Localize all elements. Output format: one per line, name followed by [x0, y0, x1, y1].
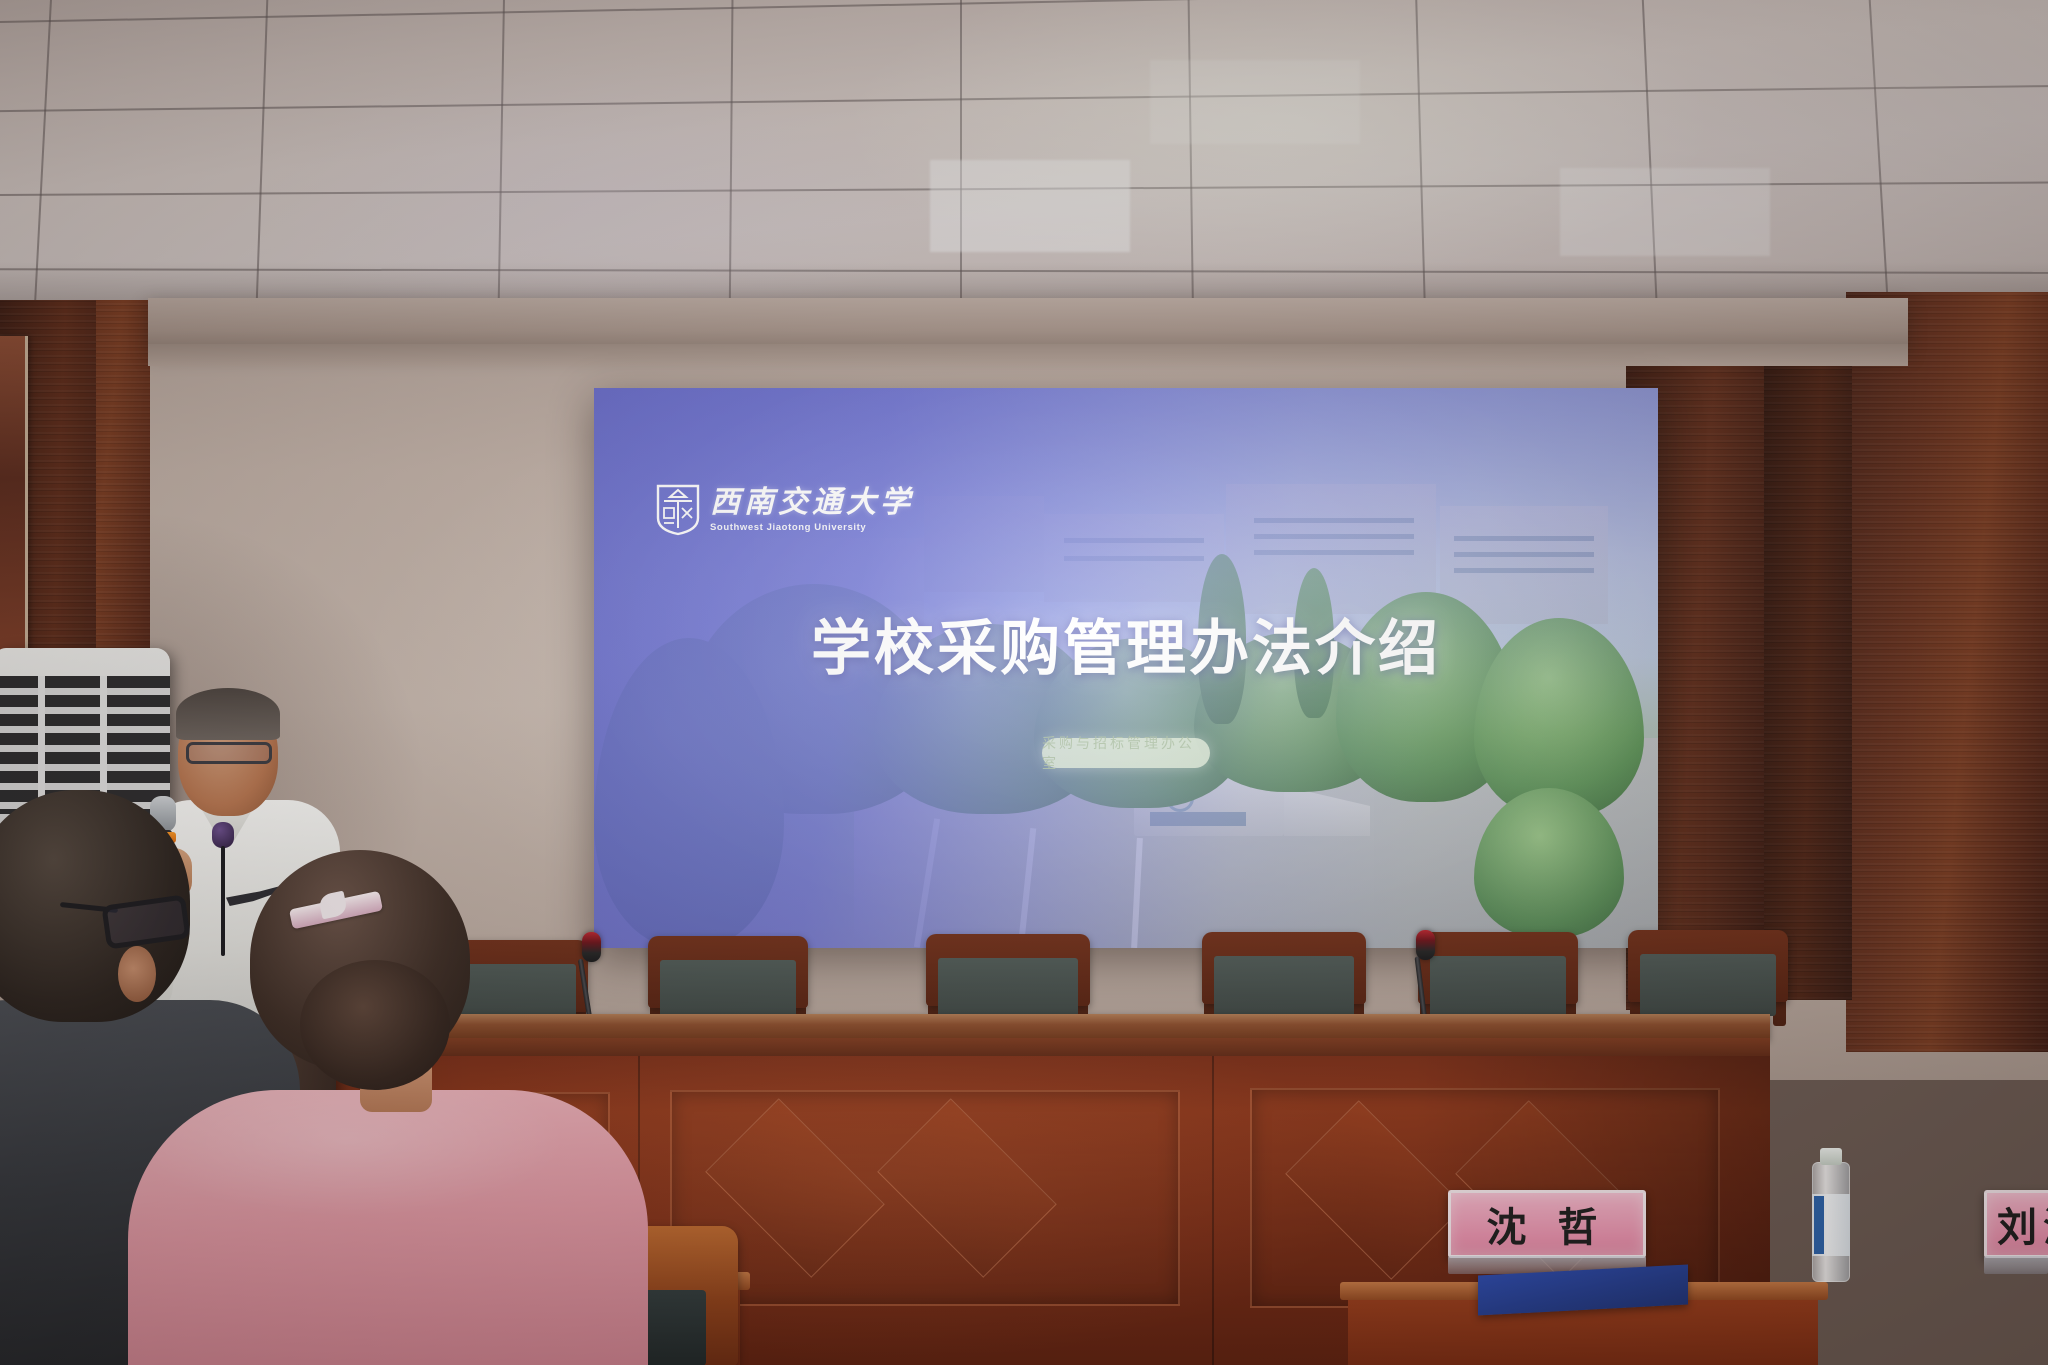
water-bottle[interactable]: [1812, 1148, 1852, 1288]
audience-member-ear: [118, 946, 156, 1002]
eyeglasses-icon: [186, 742, 272, 764]
conference-room-scene: 西南交通大学 Southwest Jiaotong University 学校采…: [0, 0, 2048, 1365]
slide-subtitle-pill: 采购与招标管理办公室: [1042, 738, 1210, 768]
nameplate-stand: [1984, 1256, 2048, 1274]
slide-title: 学校采购管理办法介绍: [594, 600, 1658, 687]
nameplate: 沈 哲: [1448, 1190, 1646, 1258]
wood-panel-right: [1846, 292, 2048, 1052]
framed-artwork: [0, 336, 28, 652]
suspended-ceiling: [0, 0, 2048, 332]
ceiling-tile-grid: [0, 0, 2048, 332]
audience-member-body: [128, 1090, 648, 1365]
university-crest-icon: [656, 484, 700, 536]
projection-screen: 西南交通大学 Southwest Jiaotong University 学校采…: [594, 388, 1658, 948]
projected-slide: 西南交通大学 Southwest Jiaotong University 学校采…: [594, 388, 1658, 948]
presenter-hair: [176, 688, 280, 740]
wood-panel-right-inner: [1760, 300, 1852, 1000]
logo-english-name: Southwest Jiaotong University: [710, 523, 914, 533]
logo-chinese-name: 西南交通大学: [710, 488, 914, 518]
audience-member-hair-bun: [300, 960, 450, 1090]
university-logo: 西南交通大学 Southwest Jiaotong University: [656, 484, 914, 536]
nameplate: 刘海: [1984, 1190, 2048, 1258]
ceiling-soffit-face: [148, 344, 1908, 366]
